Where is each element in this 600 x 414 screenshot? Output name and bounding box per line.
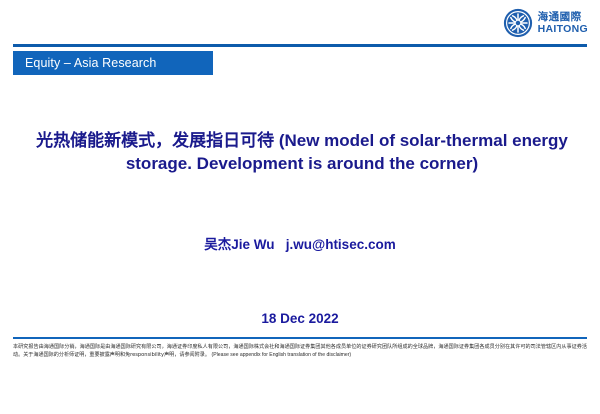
disclaimer-block: 本研究报告由海通国际分销，海通国际是由海通国际研究有限公司，海通证券印度私人有限… <box>13 344 587 360</box>
slide-cover: 海通國際 HAITONG Equity – Asia Research 光热储能… <box>0 0 600 414</box>
header-divider <box>13 44 587 47</box>
publication-date: 18 Dec 2022 <box>0 311 600 326</box>
logo-wordmark: 海通國際 HAITONG <box>538 12 588 35</box>
author-line: 吴杰Jie Wu j.wu@htisec.com <box>0 233 600 253</box>
logo-chinese-name: 海通國際 <box>538 12 588 23</box>
sector-banner-label: Equity – Asia Research <box>13 56 156 70</box>
haitong-logo: 海通國際 HAITONG <box>503 8 588 38</box>
page-title-english-part1: (New model of solar-thermal energy <box>274 131 568 150</box>
author-email[interactable]: j.wu@htisec.com <box>286 237 396 252</box>
page-title: 光热储能新模式，发展指日可待 (New model of solar-therm… <box>24 130 580 176</box>
disclaimer-english-note: (Please see appendix for English transla… <box>212 352 352 358</box>
footer-divider <box>13 337 587 339</box>
haitong-pinwheel-icon <box>503 8 533 38</box>
author-name-chinese: 吴杰 <box>204 237 231 253</box>
page-title-chinese: 光热储能新模式，发展指日可待 <box>36 131 274 151</box>
page-title-english-part2: storage. Development is around the corne… <box>126 154 478 173</box>
sector-banner: Equity – Asia Research <box>13 51 213 75</box>
logo-english-name: HAITONG <box>538 24 588 35</box>
author-name-english: Jie Wu <box>231 237 274 252</box>
